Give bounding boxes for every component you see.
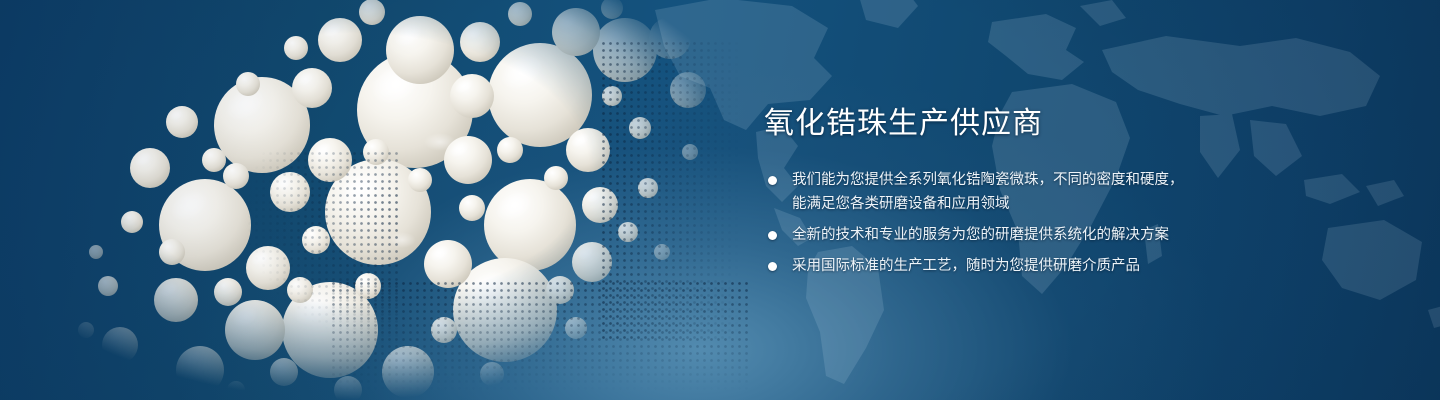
banner-copy: 氧化锆珠生产供应商 我们能为您提供全系列氧化锆陶瓷微珠，不同的密度和硬度， 能满… — [764, 104, 1364, 278]
banner-feature-list: 我们能为您提供全系列氧化锆陶瓷微珠，不同的密度和硬度， 能满足您各类研磨设备和应… — [764, 168, 1364, 278]
bullet-dot-icon — [768, 231, 777, 240]
feature-item-1: 我们能为您提供全系列氧化锆陶瓷微珠，不同的密度和硬度， 能满足您各类研磨设备和应… — [764, 168, 1364, 216]
feature-item-2-line-1: 全新的技术和专业的服务为您的研磨提供系统化的解决方案 — [792, 223, 1364, 247]
feature-item-1-line-2: 能满足您各类研磨设备和应用领域 — [792, 192, 1364, 216]
feature-item-1-line-1: 我们能为您提供全系列氧化锆陶瓷微珠，不同的密度和硬度， — [792, 168, 1364, 192]
feature-item-3: 采用国际标准的生产工艺，随时为您提供研磨介质产品 — [764, 254, 1364, 278]
feature-item-3-line-1: 采用国际标准的生产工艺，随时为您提供研磨介质产品 — [792, 254, 1364, 278]
banner-headline: 氧化锆珠生产供应商 — [764, 104, 1364, 144]
bullet-dot-icon — [768, 262, 777, 271]
hero-banner: 氧化锆珠生产供应商 我们能为您提供全系列氧化锆陶瓷微珠，不同的密度和硬度， 能满… — [0, 0, 1440, 400]
bullet-dot-icon — [768, 176, 777, 185]
feature-item-2: 全新的技术和专业的服务为您的研磨提供系统化的解决方案 — [764, 223, 1364, 247]
